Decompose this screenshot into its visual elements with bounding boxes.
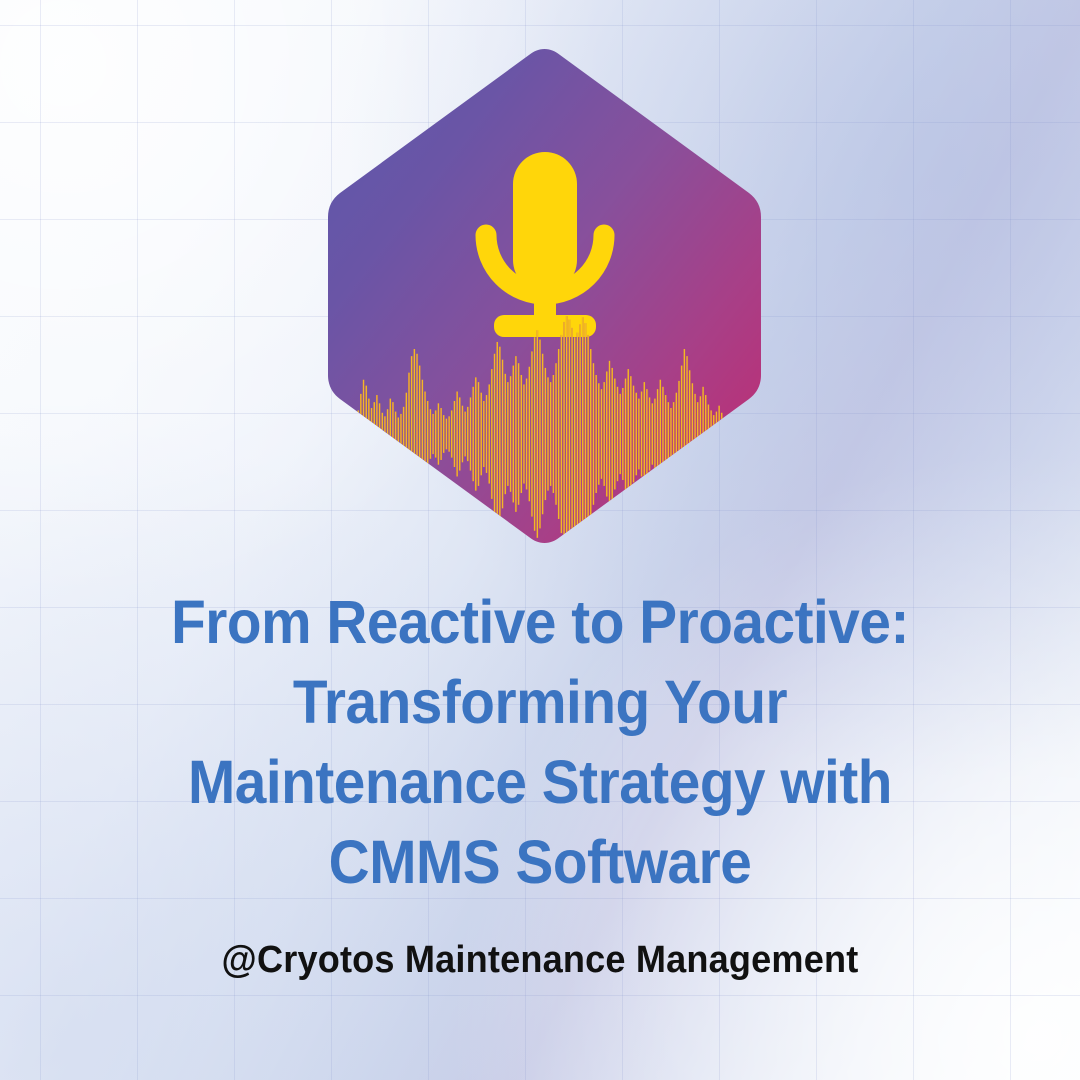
waveform-bar	[702, 387, 704, 481]
channel-handle: @Cryotos Maintenance Management	[84, 936, 996, 984]
waveform-bar	[376, 395, 378, 473]
waveform-bar	[355, 423, 357, 444]
waveform-bar	[528, 367, 530, 502]
waveform-bar	[365, 386, 367, 483]
waveform-bar	[582, 317, 584, 545]
waveform-bar	[708, 405, 710, 464]
waveform-bar	[446, 419, 448, 450]
waveform-bar	[558, 349, 560, 519]
waveform-bar	[665, 395, 667, 473]
waveform-bar	[464, 412, 466, 457]
waveform-bar	[732, 426, 734, 443]
waveform-bar	[349, 426, 351, 443]
waveform-bar	[657, 389, 659, 479]
waveform-bar	[563, 322, 565, 545]
waveform-bar	[483, 401, 485, 467]
waveform-bar	[486, 395, 488, 473]
waveform-bar	[737, 428, 739, 440]
waveform-bar	[518, 363, 520, 505]
waveform-bar	[387, 409, 389, 459]
waveform-bar	[507, 382, 509, 486]
waveform-bar	[427, 401, 429, 467]
waveform-bar	[729, 423, 731, 444]
waveform-bar	[381, 413, 383, 455]
waveform-bar	[443, 415, 445, 453]
waveform-bar	[659, 380, 661, 489]
waveform-bar	[587, 335, 589, 533]
waveform-bar	[424, 392, 426, 477]
title-line-2: Transforming Your	[94, 662, 987, 742]
waveform-bar	[742, 430, 744, 437]
waveform-bar	[579, 324, 581, 543]
waveform-bar	[347, 428, 349, 440]
waveform-bar	[502, 360, 504, 509]
waveform-bar	[740, 429, 742, 438]
waveform-bar	[627, 369, 629, 499]
waveform-bar	[499, 347, 501, 522]
waveform-bar	[689, 370, 691, 497]
waveform-bar	[561, 335, 563, 533]
waveform-bar	[435, 410, 437, 457]
waveform-bar	[534, 337, 536, 531]
waveform-bar	[585, 323, 587, 545]
waveform-bar	[536, 330, 538, 538]
waveform-bar	[724, 417, 726, 450]
waveform-bar	[478, 382, 480, 486]
waveform-bar	[625, 379, 627, 490]
waveform-bar	[352, 427, 354, 441]
waveform-bar	[670, 408, 672, 460]
waveform-bar	[641, 392, 643, 477]
waveform-bar	[520, 375, 522, 493]
waveform-bar	[523, 384, 525, 483]
hexagon-badge-svg	[326, 47, 763, 545]
waveform-bar	[603, 382, 605, 486]
waveform-bar	[705, 395, 707, 473]
waveform-bar	[480, 393, 482, 476]
waveform-bar	[411, 356, 413, 512]
waveform-bar	[539, 340, 541, 529]
waveform-bar	[595, 375, 597, 493]
waveform-bar	[606, 371, 608, 496]
page-title: From Reactive to Proactive: Transforming…	[94, 582, 987, 902]
waveform-bar	[371, 408, 373, 460]
waveform-bar	[515, 356, 517, 512]
waveform-bar	[454, 401, 456, 467]
waveform-bar	[619, 394, 621, 474]
waveform-bar	[700, 396, 702, 472]
title-line-3: Maintenance Strategy with	[94, 742, 987, 822]
waveform-bar	[684, 349, 686, 519]
waveform-bar	[384, 416, 386, 451]
waveform-bar	[405, 393, 407, 476]
waveform-bar	[430, 409, 432, 459]
waveform-bar	[432, 414, 434, 454]
waveform-bar	[462, 406, 464, 463]
waveform-bar	[510, 376, 512, 492]
waveform-bar	[531, 351, 533, 516]
waveform-bar	[667, 402, 669, 466]
waveform-bar	[467, 407, 469, 461]
waveform-bar	[389, 399, 391, 470]
waveform-bar	[475, 377, 477, 490]
waveform-bar	[622, 388, 624, 480]
podcast-cover-card: From Reactive to Proactive: Transforming…	[0, 0, 1080, 1080]
waveform-bar	[654, 399, 656, 470]
waveform-bar	[363, 380, 365, 489]
waveform-bar	[438, 403, 440, 464]
waveform-bar	[373, 402, 375, 466]
waveform-bar	[678, 381, 680, 487]
waveform-bar	[542, 354, 544, 514]
waveform-bar	[646, 389, 648, 479]
waveform-bar	[395, 412, 397, 457]
waveform-bar	[694, 394, 696, 474]
waveform-bar	[368, 399, 370, 470]
waveform-bar	[392, 402, 394, 466]
waveform-bar	[440, 408, 442, 460]
podcast-badge	[326, 47, 763, 545]
waveform-bar	[397, 417, 399, 450]
waveform-bar	[419, 366, 421, 503]
waveform-bar	[553, 375, 555, 493]
waveform-bar	[496, 342, 498, 526]
waveform-bar	[697, 402, 699, 466]
waveform-bar	[673, 402, 675, 466]
waveform-bar	[569, 320, 571, 545]
waveform-bar	[451, 410, 453, 457]
waveform-bar	[488, 384, 490, 483]
waveform-bar	[448, 416, 450, 451]
waveform-bar	[638, 399, 640, 470]
waveform-bar	[555, 363, 557, 505]
waveform-bar	[721, 413, 723, 455]
waveform-bar	[630, 376, 632, 492]
waveform-bar	[491, 369, 493, 499]
waveform-bar	[692, 383, 694, 484]
waveform-bar	[574, 337, 576, 531]
waveform-bar	[400, 414, 402, 454]
waveform-bar	[734, 427, 736, 441]
waveform-bar	[512, 366, 514, 503]
title-line-1: From Reactive to Proactive:	[94, 582, 987, 662]
waveform-bar	[713, 415, 715, 453]
waveform-bar	[422, 380, 424, 489]
waveform-bar	[459, 397, 461, 470]
waveform-bar	[598, 383, 600, 484]
waveform-bar	[472, 387, 474, 481]
waveform-bar	[550, 382, 552, 486]
waveform-bar	[526, 379, 528, 490]
waveform-bar	[470, 397, 472, 470]
waveform-bar	[344, 429, 346, 438]
waveform-bar	[609, 361, 611, 507]
microphone-capsule	[513, 152, 577, 292]
waveform-bar	[566, 316, 568, 545]
waveform-bar	[577, 333, 579, 536]
waveform-bar	[718, 406, 720, 463]
waveform-bar	[504, 374, 506, 494]
waveform-bar	[590, 349, 592, 519]
waveform-bar	[547, 377, 549, 490]
waveform-bar	[675, 393, 677, 476]
waveform-bar	[601, 389, 603, 479]
title-line-4: CMMS Software	[94, 822, 987, 902]
waveform-bar	[357, 410, 359, 457]
waveform-bar	[403, 407, 405, 461]
waveform-bar	[379, 403, 381, 464]
waveform-bar	[617, 387, 619, 481]
waveform-bar	[651, 403, 653, 464]
waveform-bar	[686, 356, 688, 512]
waveform-bar	[614, 379, 616, 490]
waveform-bar	[611, 368, 613, 500]
waveform-bar	[360, 394, 362, 474]
waveform-bar	[408, 373, 410, 496]
waveform-bar	[633, 386, 635, 483]
waveform-bar	[726, 421, 728, 447]
waveform-bar	[571, 328, 573, 540]
waveform-bar	[662, 387, 664, 481]
waveform-bar	[681, 366, 683, 503]
waveform-bar	[416, 354, 418, 514]
waveform-bar	[494, 354, 496, 514]
waveform-bar	[710, 410, 712, 457]
waveform-bar	[545, 368, 547, 500]
waveform-bar	[593, 363, 595, 505]
waveform-bar	[414, 349, 416, 519]
waveform-bar	[716, 412, 718, 457]
waveform-bar	[643, 382, 645, 486]
waveform-bar	[649, 397, 651, 470]
waveform-bar	[635, 393, 637, 476]
waveform-bar	[456, 392, 458, 477]
